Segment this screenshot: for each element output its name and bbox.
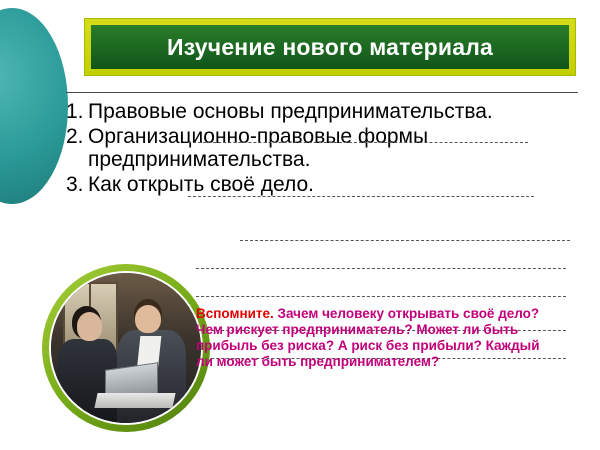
list-item: 2. Организационно-правовые формы предпри… <box>66 125 586 172</box>
ruled-line <box>188 142 528 143</box>
list-item-number: 1. <box>66 100 88 124</box>
slide-canvas: Изучение нового материала 1. Правовые ос… <box>0 0 600 450</box>
title-banner: Изучение нового материала <box>84 18 576 76</box>
ruled-line <box>188 196 534 197</box>
title-banner-inner: Изучение нового материала <box>91 25 569 69</box>
question-block: Вспомните. Зачем человеку открывать своё… <box>196 306 548 370</box>
question-lead: Вспомните. <box>196 306 274 321</box>
list-item-number: 3. <box>66 173 88 197</box>
photo-image <box>49 271 203 425</box>
list-item: 3. Как открыть своё дело. <box>66 173 586 197</box>
list-item-label: Как открыть своё дело. <box>88 173 586 197</box>
list-item: 1. Правовые основы предпринимательства. <box>66 100 586 124</box>
page-title: Изучение нового материала <box>167 34 493 61</box>
ruled-line <box>196 268 566 269</box>
photo-laptop-base <box>94 393 175 408</box>
ruled-line <box>196 296 566 297</box>
list-item-number: 2. <box>66 125 88 149</box>
photo-oval-frame <box>42 264 210 432</box>
photo-person-right-head <box>135 305 161 334</box>
divider-top <box>66 92 578 93</box>
decorative-circle <box>0 8 68 204</box>
ruled-line <box>240 240 570 241</box>
list-item-label: Правовые основы предпринимательства. <box>88 100 586 124</box>
numbered-list: 1. Правовые основы предпринимательства. … <box>66 100 586 197</box>
list-item-label: Организационно-правовые формы предприним… <box>88 125 586 172</box>
photo-person-left-head <box>77 312 103 341</box>
